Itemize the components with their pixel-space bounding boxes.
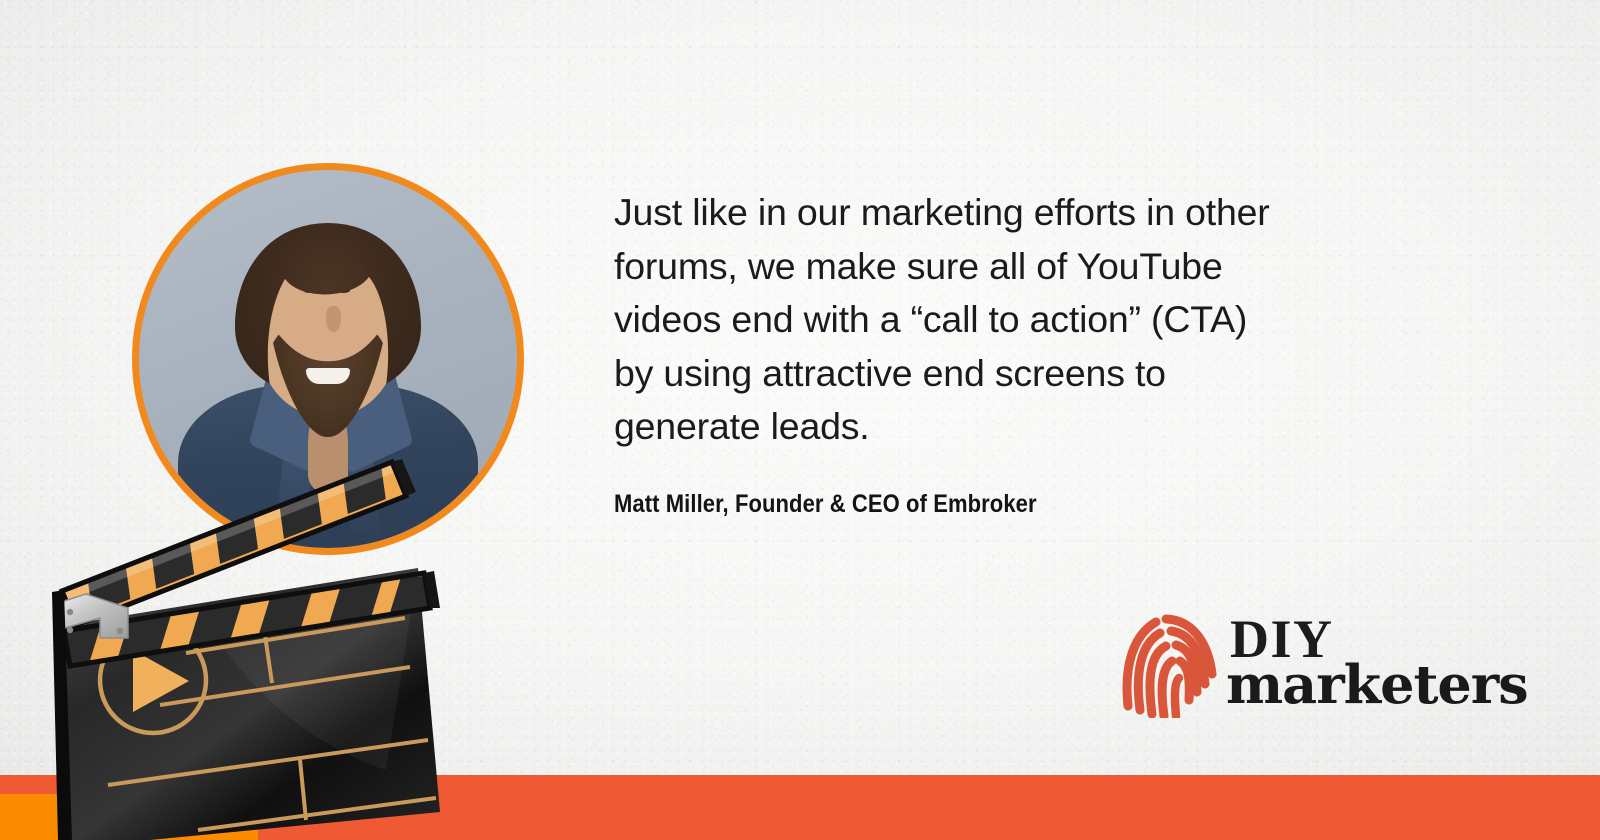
diy-marketers-logo[interactable]: DIY marketers <box>1122 608 1494 723</box>
clapperboard-svg <box>0 440 470 840</box>
fingerprint-icon <box>1122 610 1226 718</box>
fingerprint-svg <box>1122 610 1226 718</box>
clapperboard-graphic <box>0 440 470 840</box>
logo-wordmark: DIY marketers <box>1226 608 1494 723</box>
portrait-smile <box>306 368 350 384</box>
quote-text: Just like in our marketing efforts in ot… <box>614 186 1404 454</box>
slide-canvas: Just like in our marketing efforts in ot… <box>0 0 1600 840</box>
quote-block: Just like in our marketing efforts in ot… <box>614 186 1404 454</box>
quote-attribution: Matt Miller, Founder & CEO of Embroker <box>614 490 1037 519</box>
logo-marketers-text: marketers <box>1226 656 1528 714</box>
